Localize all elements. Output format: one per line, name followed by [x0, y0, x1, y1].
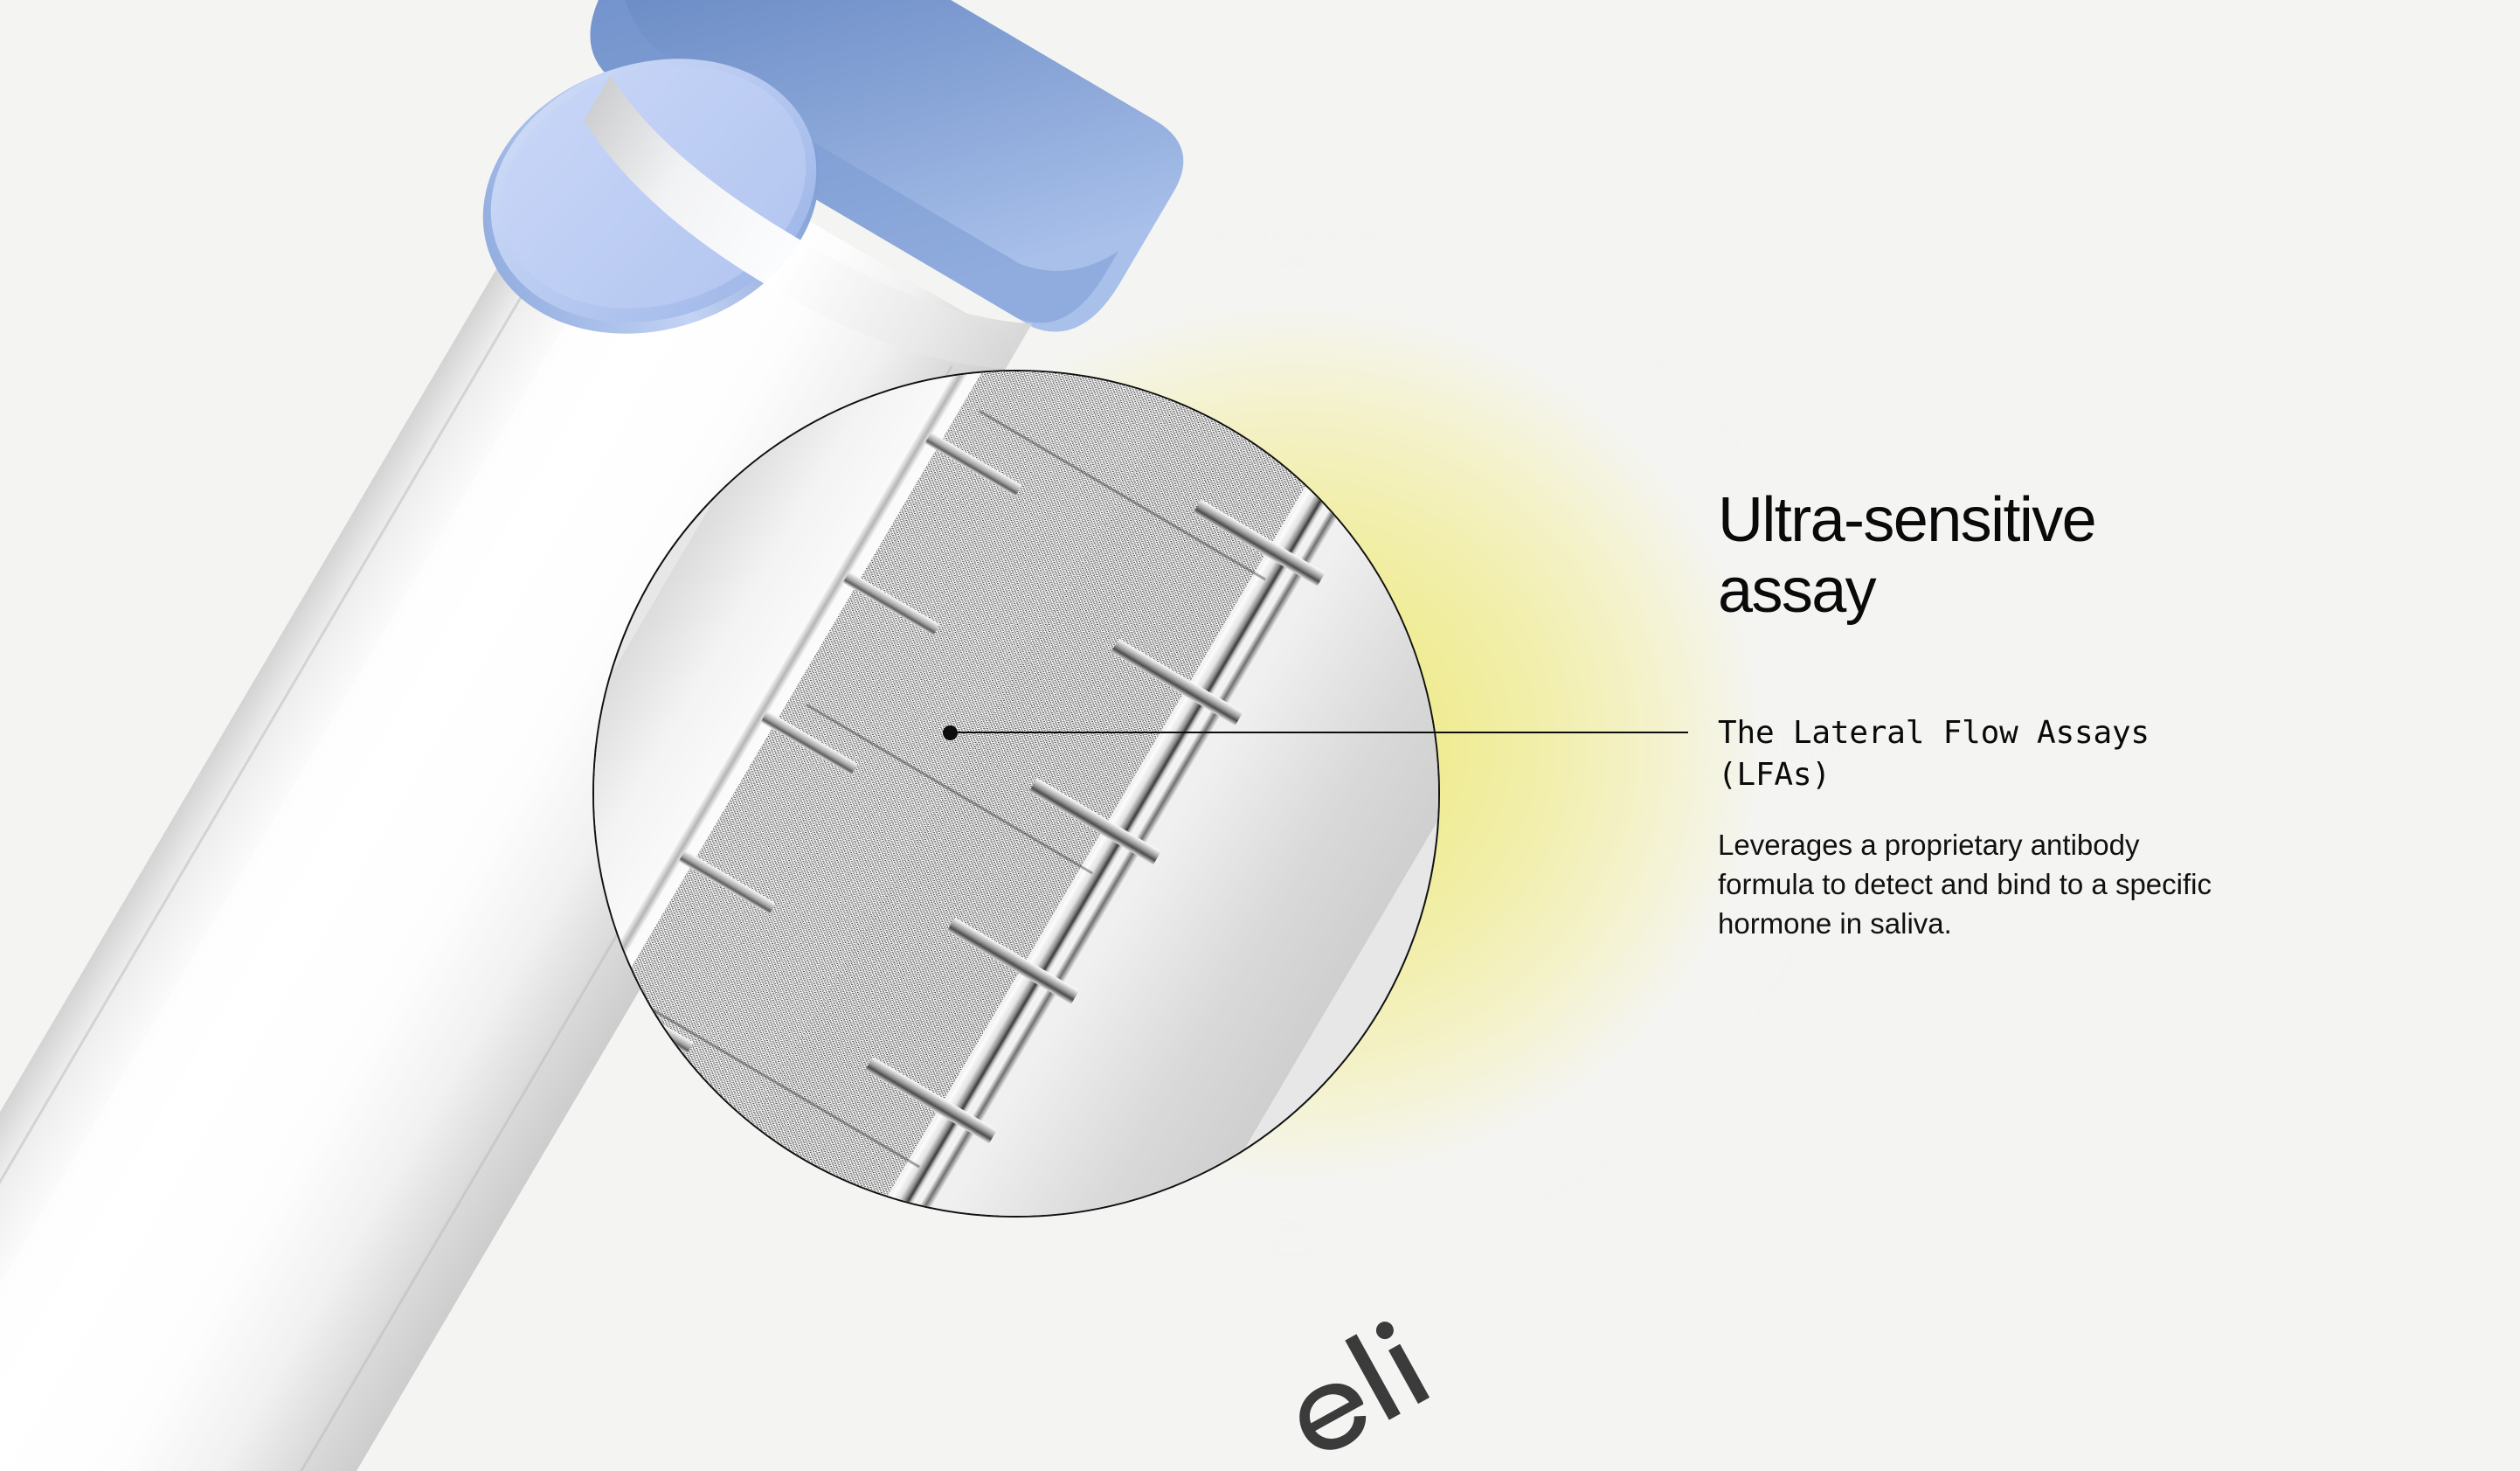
- magnifier-callout: [592, 370, 1440, 1218]
- leader-line: [950, 732, 1688, 733]
- assay-strip-magnified: [592, 370, 1440, 1218]
- callout-headline: Ultra-sensitive assay: [1718, 485, 2190, 626]
- callout-subhead: The Lateral Flow Assays (LFAs): [1718, 712, 2277, 796]
- eli-logo: [1271, 1299, 1464, 1463]
- illustration-stage: Ultra-sensitive assay The Lateral Flow A…: [0, 0, 2520, 1471]
- magnifier-content: [592, 370, 1440, 1218]
- callout-body-text: Leverages a proprietary antibody formula…: [1718, 826, 2216, 944]
- callout-copy: Ultra-sensitive assay The Lateral Flow A…: [1718, 485, 2277, 626]
